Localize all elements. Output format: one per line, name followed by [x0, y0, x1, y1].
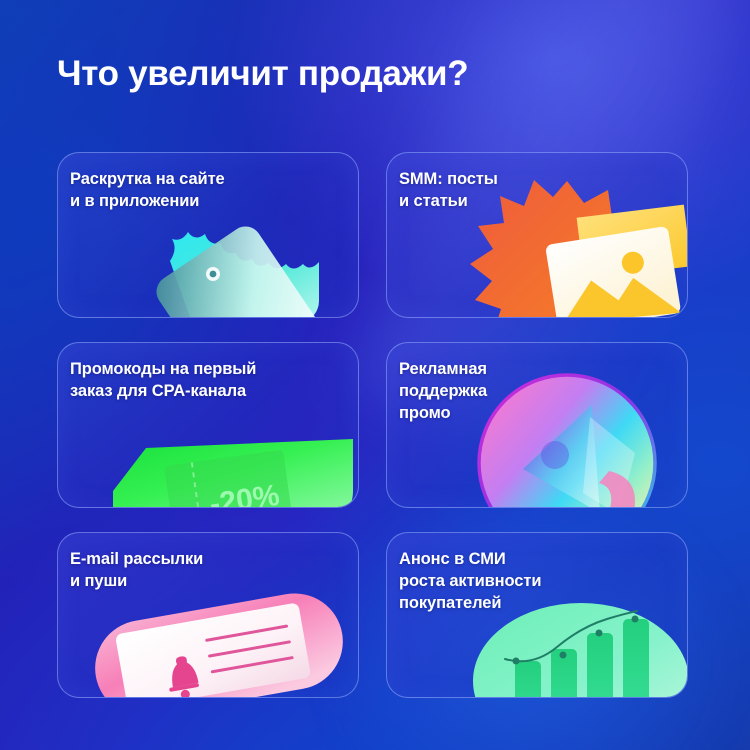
- card-label: Рекламная поддержка промо: [399, 358, 679, 424]
- card-smm-posts-articles[interactable]: SMM: посты и статьи: [386, 152, 688, 318]
- card-media-announcement[interactable]: Анонс в СМИ роста активности покупателей: [386, 532, 688, 698]
- card-cpa-promocodes[interactable]: Промокоды на первый заказ для CPA-канала: [57, 342, 359, 508]
- cards-grid: Раскрутка на сайте и в приложении: [57, 152, 689, 698]
- card-label: E-mail рассылки и пуши: [70, 548, 350, 592]
- card-email-push[interactable]: E-mail рассылки и пуши: [57, 532, 359, 698]
- cards-row-1: Раскрутка на сайте и в приложении: [57, 152, 689, 318]
- card-site-app-promotion[interactable]: Раскрутка на сайте и в приложении: [57, 152, 359, 318]
- card-label: Раскрутка на сайте и в приложении: [70, 168, 350, 212]
- card-label: Промокоды на первый заказ для CPA-канала: [70, 358, 350, 402]
- poster-canvas: Что увеличит продажи? Раскрутка на сайте…: [0, 0, 750, 750]
- page-title: Что увеличит продажи?: [57, 55, 697, 94]
- cards-row-3: E-mail рассылки и пуши: [57, 532, 689, 698]
- card-label: SMM: посты и статьи: [399, 168, 679, 212]
- cards-row-2: Промокоды на первый заказ для CPA-канала: [57, 342, 689, 508]
- card-promo-ad-support[interactable]: Рекламная поддержка промо: [386, 342, 688, 508]
- card-label: Анонс в СМИ роста активности покупателей: [399, 548, 679, 614]
